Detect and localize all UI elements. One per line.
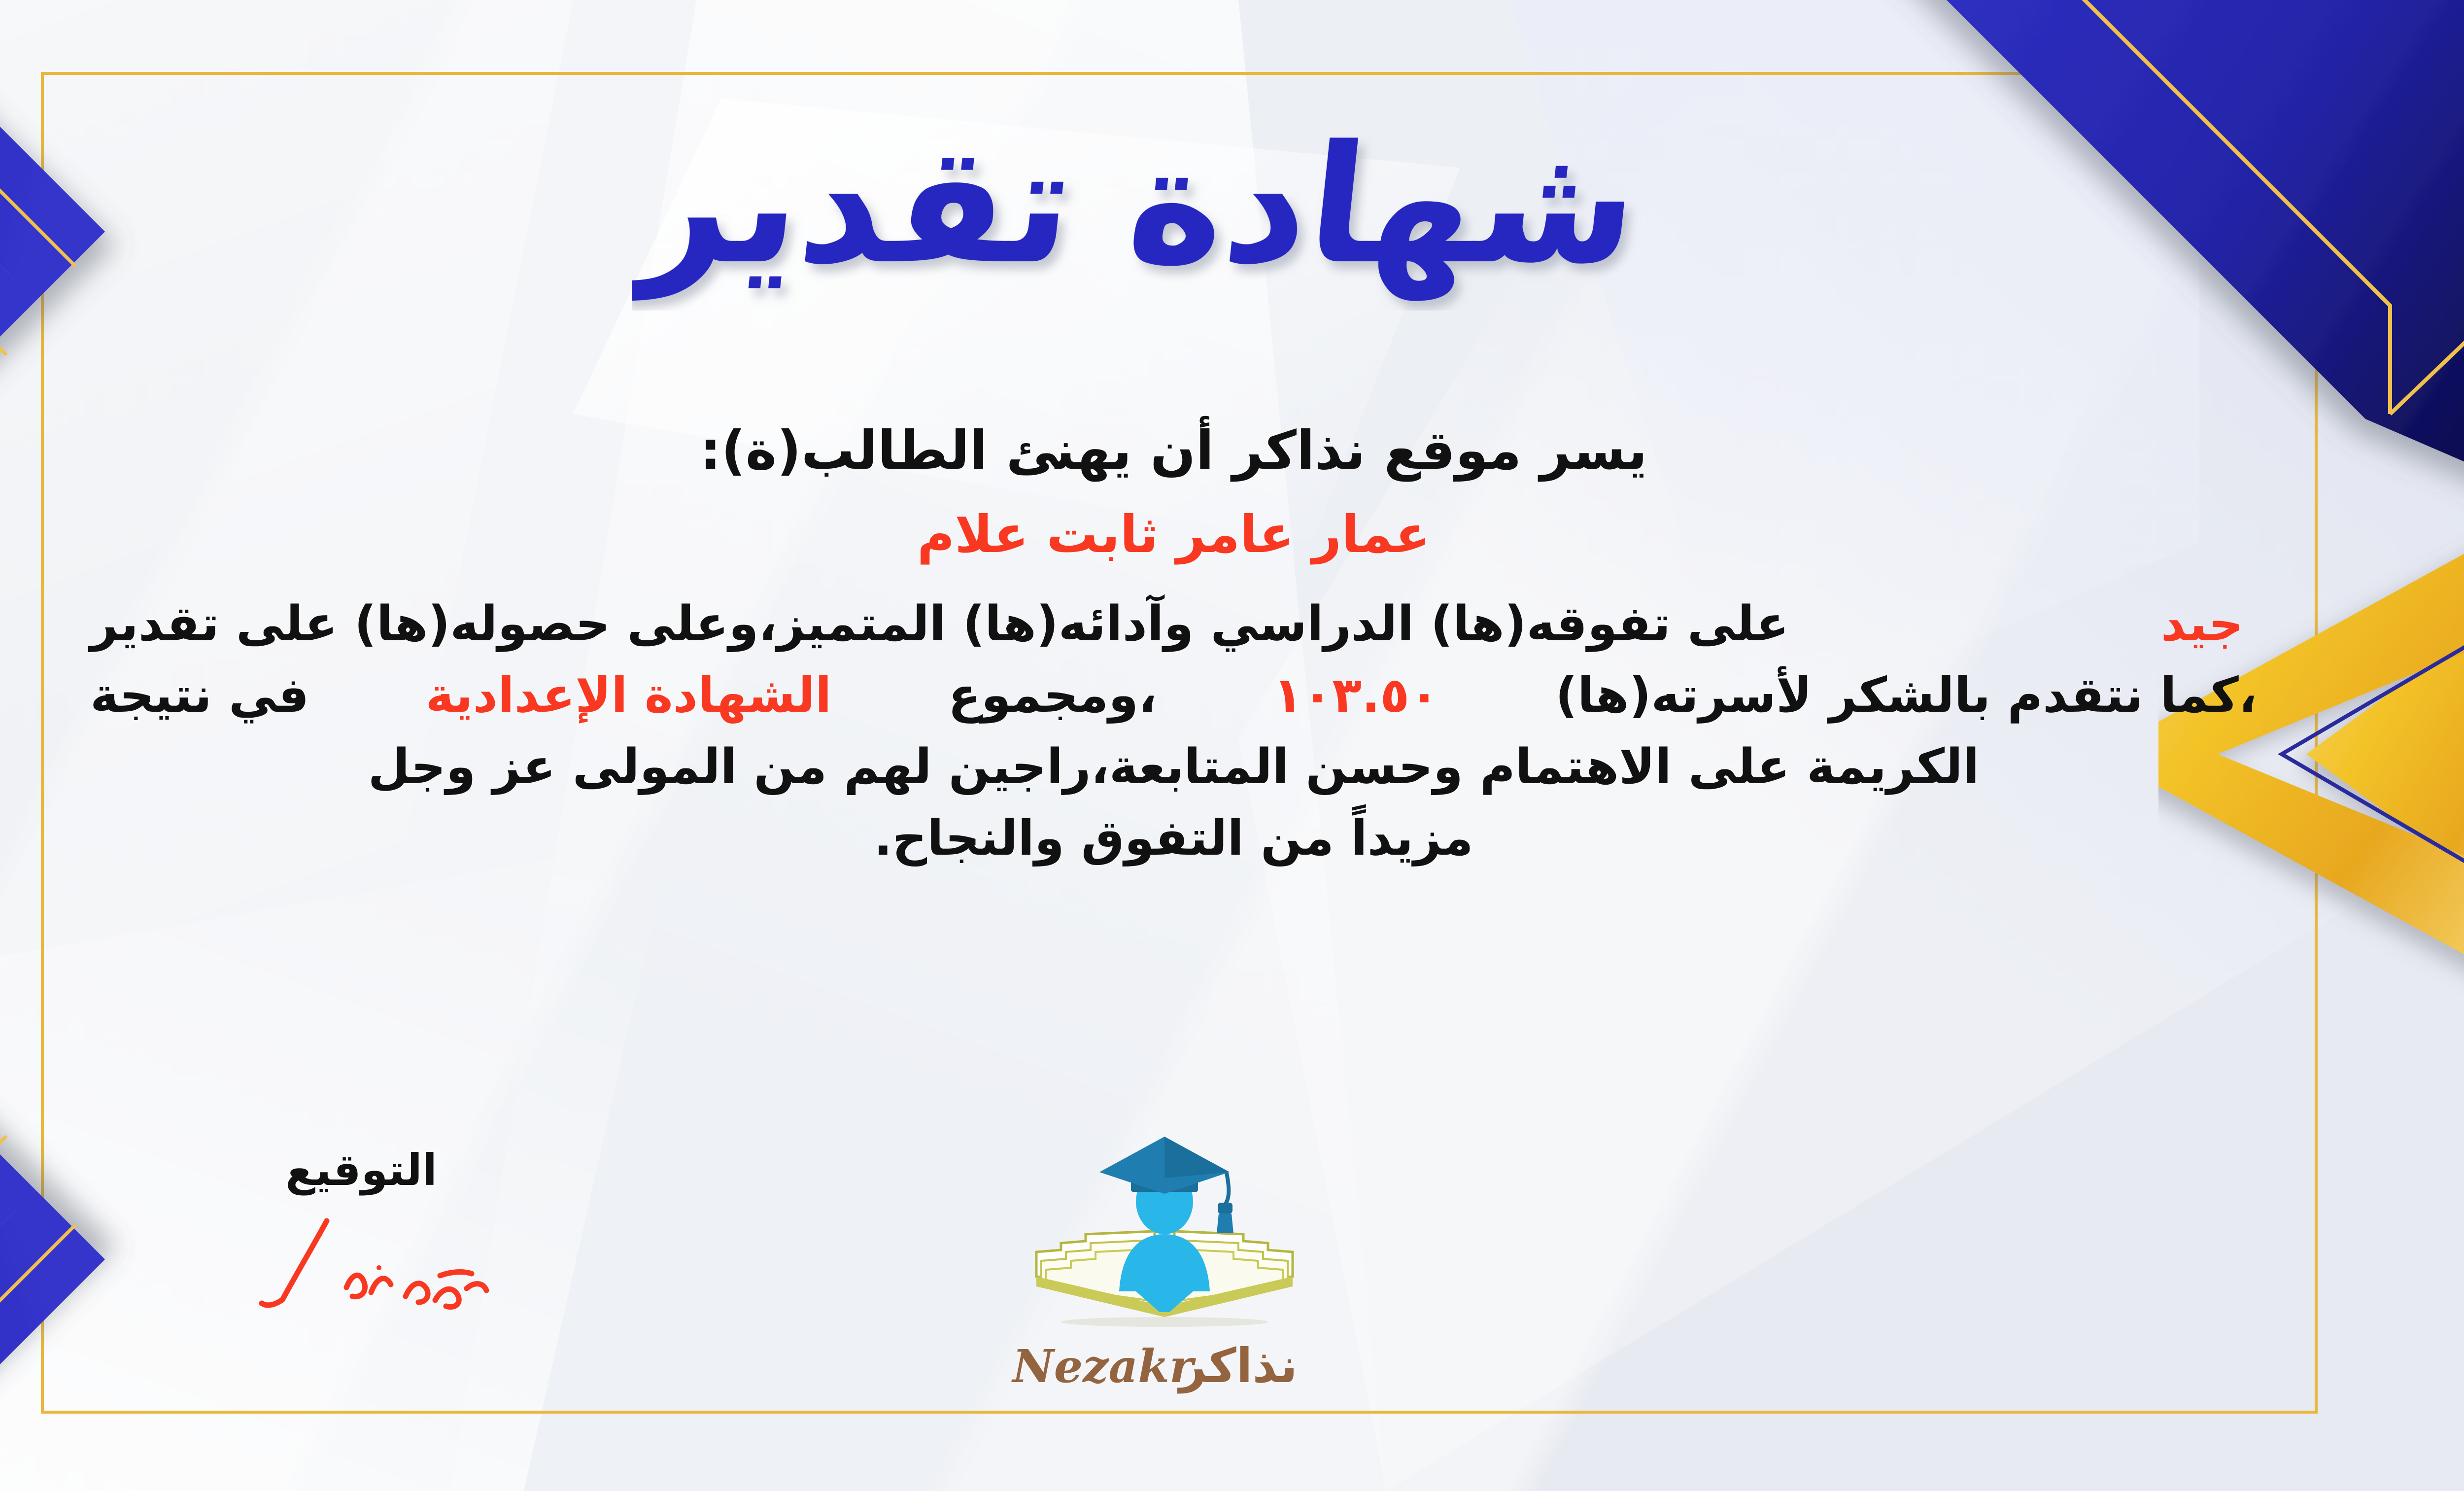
brand-arabic-text: نذاكر: [1177, 1338, 1298, 1393]
brand-wordmark: نذاكر Nezakr: [977, 1335, 1352, 1401]
exam-name-value: الشهادة الإعدادية: [412, 660, 846, 731]
student-name: عمار عامر ثابت علام: [90, 504, 2257, 565]
certificate-body: يسر موقع نذاكر أن يهنئ الطالب(ة): عمار ع…: [90, 419, 2257, 875]
signature-block: التوقيع: [208, 1148, 514, 1314]
certificate-title: شهادة تقدير: [0, 99, 2464, 312]
certificate-document: شهادة تقدير يسر موقع نذاكر أن يهنئ الطال…: [0, 0, 2464, 1491]
brand-latin-text: Nezakr: [1011, 1340, 1197, 1393]
body-line-2-start: في نتيجة: [90, 660, 309, 731]
grade-value: جيد: [2147, 589, 2257, 660]
body-line-3: الكريمة على الاهتمام وحسن المتابعة،راجين…: [90, 731, 2257, 803]
body-line-1-text: على تفوقه(ها) الدراسي وآدائه(ها) المتميز…: [90, 589, 1789, 660]
signature-mark: [208, 1214, 514, 1314]
title-glyphs: شهادة تقدير: [632, 111, 1647, 302]
body-paragraph: جيد على تفوقه(ها) الدراسي وآدائه(ها) الم…: [90, 589, 2257, 874]
body-line-2: ،كما نتقدم بالشكر لأسرته(ها) ١٠٣.٥٠ ،ومج…: [90, 660, 2257, 731]
signature-label: التوقيع: [208, 1148, 514, 1192]
total-score-value: ١٠٣.٥٠: [1260, 660, 1453, 731]
body-line-2-mid: ،ومجموع: [948, 660, 1157, 731]
greeting-line: يسر موقع نذاكر أن يهنئ الطالب(ة):: [90, 419, 2257, 483]
body-line-2-end: ،كما نتقدم بالشكر لأسرته(ها): [1555, 660, 2257, 731]
body-line-1: جيد على تفوقه(ها) الدراسي وآدائه(ها) الم…: [90, 589, 2257, 660]
brand-logo: نذاكر Nezakr: [977, 1129, 1352, 1401]
body-line-4: مزيداً من التفوق والنجاح.: [90, 803, 2257, 874]
graduate-book-icon: [1007, 1129, 1322, 1336]
